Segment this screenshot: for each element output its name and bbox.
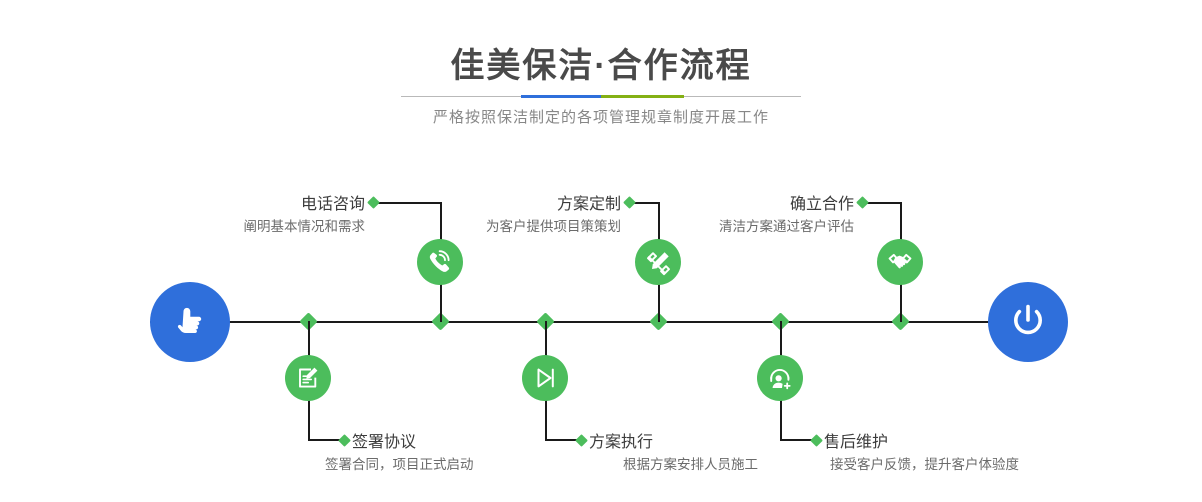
handshake-icon [886,248,914,276]
step-icon-3[interactable] [635,239,681,285]
step-icon-2[interactable] [285,355,331,401]
timeline-axis [150,321,1052,323]
phone-call-icon [426,248,454,276]
step-title-3: 方案定制 [425,190,621,214]
connector-tip-5 [856,196,869,209]
timeline-start-node[interactable] [150,282,230,362]
step-desc-4: 根据方案安排人员施工 [623,453,758,473]
connector-tip-1 [367,196,380,209]
step-desc-1: 阐明基本情况和需求 [139,215,365,235]
connector-tip-6 [810,434,823,447]
step-title-6: 售后维护 [824,428,888,452]
step-title-2: 签署协议 [352,428,416,452]
step-icon-6[interactable] [757,355,803,401]
process-flow-infographic: 佳美保洁·合作流程 严格按照保洁制定的各项管理规章制度开展工作 [0,0,1202,502]
step-title-5: 确立合作 [662,190,854,214]
step-icon-5[interactable] [877,239,923,285]
pencil-ruler-icon [645,249,672,276]
step-desc-5: 清洁方案通过客户评估 [628,215,854,235]
pointing-hand-icon [169,299,211,346]
connector-tip-3 [623,196,636,209]
page-title: 佳美保洁·合作流程 [0,38,1202,87]
connector-tip-4 [575,434,588,447]
play-execute-icon [532,365,558,391]
step-title-1: 电话咨询 [169,190,365,214]
title-divider [401,95,801,98]
page-subtitle: 严格按照保洁制定的各项管理规章制度开展工作 [0,106,1202,127]
step-desc-6: 接受客户反馈，提升客户体验度 [830,453,1019,473]
divider-segment-green [601,95,684,98]
headset-support-icon [766,364,794,392]
step-desc-2: 签署合同，项目正式启动 [325,453,474,473]
divider-segment-blue [521,95,601,98]
step-desc-3: 为客户提供项目策策划 [395,215,621,235]
step-icon-1[interactable] [417,239,463,285]
step-icon-4[interactable] [522,355,568,401]
document-edit-icon [295,365,322,392]
timeline-end-node[interactable] [988,282,1068,362]
power-button-icon [1006,298,1050,347]
connector-tip-2 [338,434,351,447]
step-title-4: 方案执行 [589,428,653,452]
